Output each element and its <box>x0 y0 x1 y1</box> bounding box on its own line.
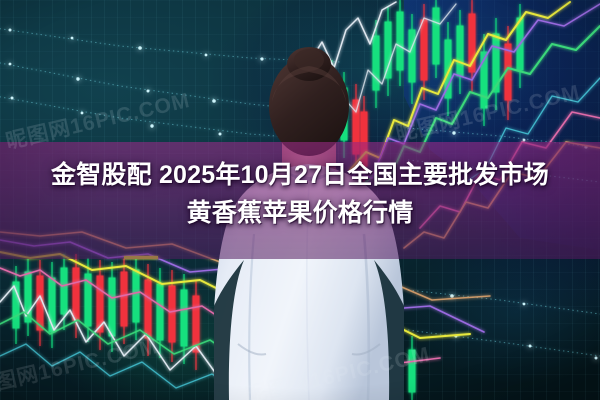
vignette-overlay <box>0 0 600 400</box>
stock-banner-image: 金智股配 2025年10月27日全国主要批发市场 黄香蕉苹果价格行情 昵图网16… <box>0 0 600 400</box>
